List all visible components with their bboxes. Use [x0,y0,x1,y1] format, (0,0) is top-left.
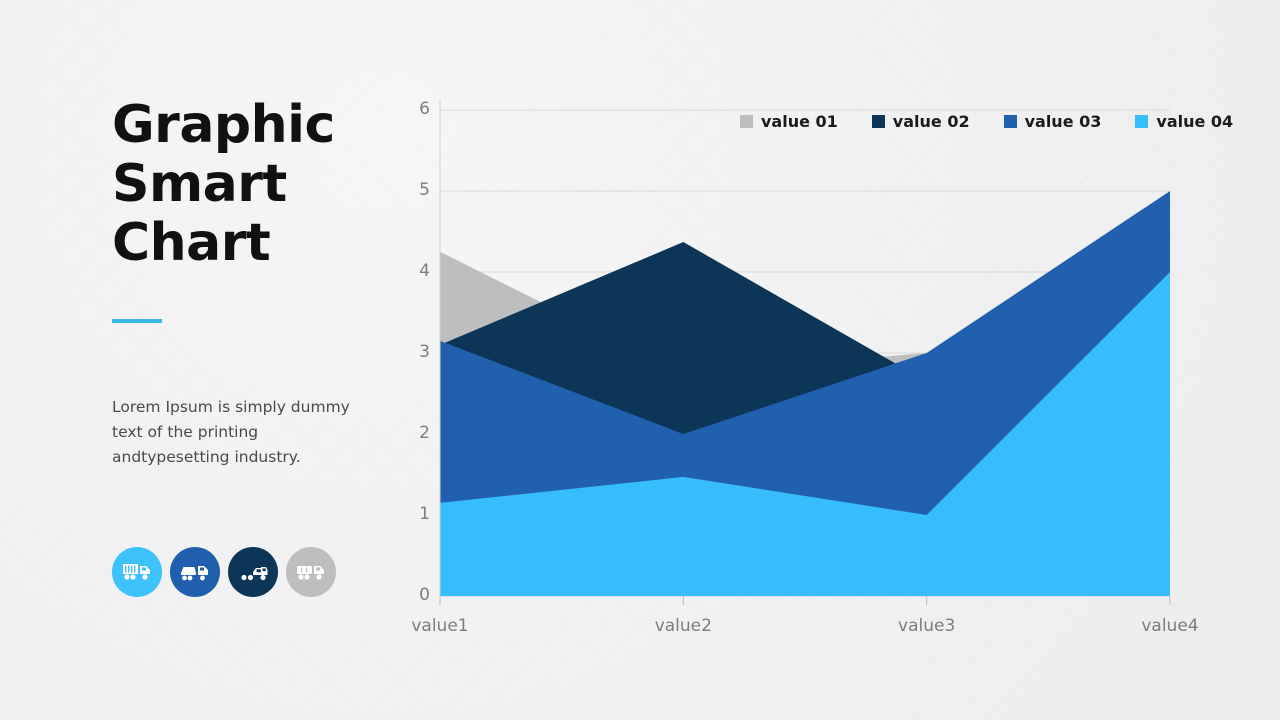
legend-label: value 03 [1025,112,1102,131]
legend-swatch [1135,115,1148,128]
x-axis-tick-label: value3 [882,616,972,636]
y-axis-tick-label: 2 [404,423,430,443]
legend-swatch [740,115,753,128]
accent-divider [112,319,162,323]
slide-canvas: Graphic Smart Chart Lorem Ipsum is simpl… [0,0,1280,720]
legend-item[interactable]: value 01 [740,112,838,131]
legend-label: value 02 [893,112,970,131]
dump-truck-icon [180,561,210,583]
tow-truck-icon [238,561,268,583]
legend-item[interactable]: value 03 [1004,112,1102,131]
y-axis-tick-label: 3 [404,342,430,362]
dump-truck-icon-button[interactable] [170,547,220,597]
left-panel: Graphic Smart Chart Lorem Ipsum is simpl… [112,96,382,486]
page-title: Graphic Smart Chart [112,96,382,273]
y-axis-tick-label: 5 [404,180,430,200]
legend-item[interactable]: value 02 [872,112,970,131]
chart-plot [400,80,1220,650]
y-axis-tick-label: 4 [404,261,430,281]
legend-label: value 04 [1156,112,1233,131]
container-truck-icon [122,561,152,583]
tanker-truck-icon-button[interactable] [286,547,336,597]
body-paragraph: Lorem Ipsum is simply dummy text of the … [112,395,362,470]
legend-item[interactable]: value 04 [1135,112,1233,131]
y-axis-tick-label: 1 [404,504,430,524]
legend-swatch [1004,115,1017,128]
container-truck-icon-button[interactable] [112,547,162,597]
chart-series-layer [440,191,1170,596]
icon-row [112,547,336,597]
legend-label: value 01 [761,112,838,131]
y-axis-tick-label: 0 [404,585,430,605]
x-axis-tick-label: value1 [395,616,485,636]
area-chart: 0123456 value1value2value3value4 [400,80,1220,650]
x-axis-tick-label: value4 [1125,616,1215,636]
tanker-truck-icon [296,561,326,583]
legend-swatch [872,115,885,128]
y-axis-tick-label: 6 [404,99,430,119]
chart-legend: value 01value 02value 03value 04 [740,112,1233,131]
x-axis-tick-label: value2 [638,616,728,636]
tow-truck-icon-button[interactable] [228,547,278,597]
